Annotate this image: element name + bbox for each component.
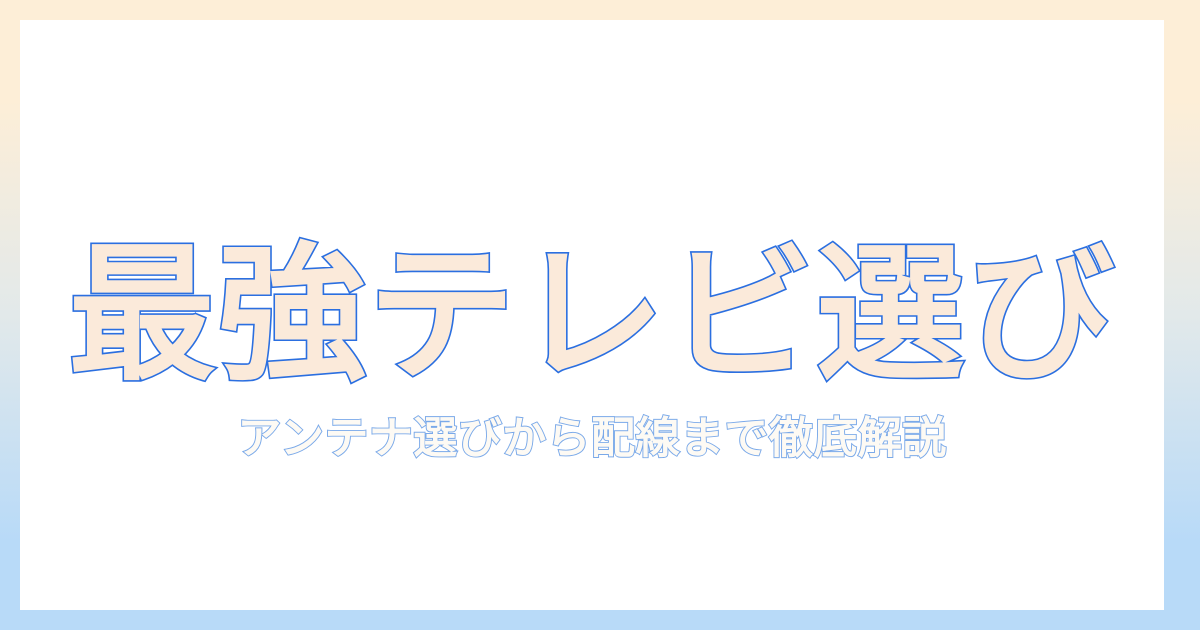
- page-title: 最強テレビ選び: [68, 241, 1116, 389]
- content-card: 最強テレビ選び アンテナ選びから配線まで徹底解説: [20, 20, 1164, 610]
- page-subtitle: アンテナ選びから配線まで徹底解説: [237, 415, 946, 463]
- subtitle-block: アンテナ選びから配線まで徹底解説: [20, 378, 1164, 499]
- eyecatch-root: 最強テレビ選び アンテナ選びから配線まで徹底解説: [0, 0, 1200, 630]
